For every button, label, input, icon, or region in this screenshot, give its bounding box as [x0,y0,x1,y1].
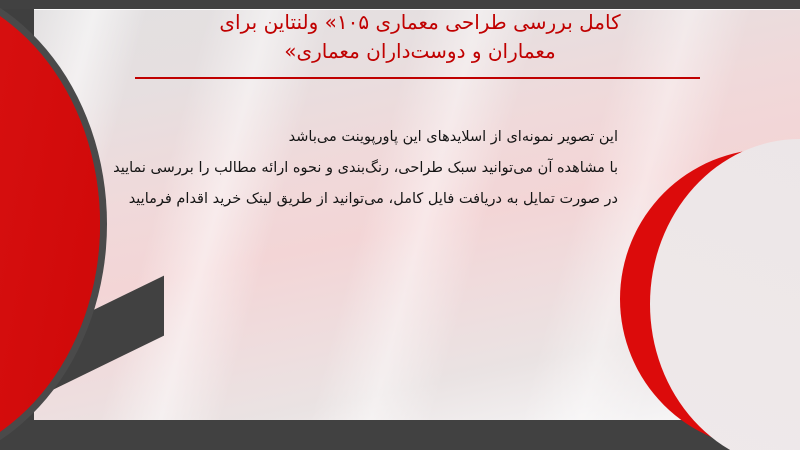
slide-body-line-2: با مشاهده آن می‌توانید سبک طراحی، رنگ‌بن… [178,153,618,184]
slide-frame-bottom-bar [0,420,800,450]
slide-body-line-1: این تصویر نمونه‌ای از اسلایدهای این پاور… [178,122,618,153]
slide-title-line-1: کامل بررسی طراحی معماری ۱۰۵» ولنتاین برا… [120,8,720,37]
slide-canvas: کامل بررسی طراحی معماری ۱۰۵» ولنتاین برا… [0,0,800,450]
slide-body-line-3: در صورت تمایل به دریافت فایل کامل، می‌تو… [178,184,618,215]
title-underline-rule [135,77,700,79]
slide-title-line-2: معماران و دوست‌داران معماری» [120,37,720,66]
slide-body-text: این تصویر نمونه‌ای از اسلایدهای این پاور… [178,122,618,215]
slide-title: کامل بررسی طراحی معماری ۱۰۵» ولنتاین برا… [120,8,720,66]
